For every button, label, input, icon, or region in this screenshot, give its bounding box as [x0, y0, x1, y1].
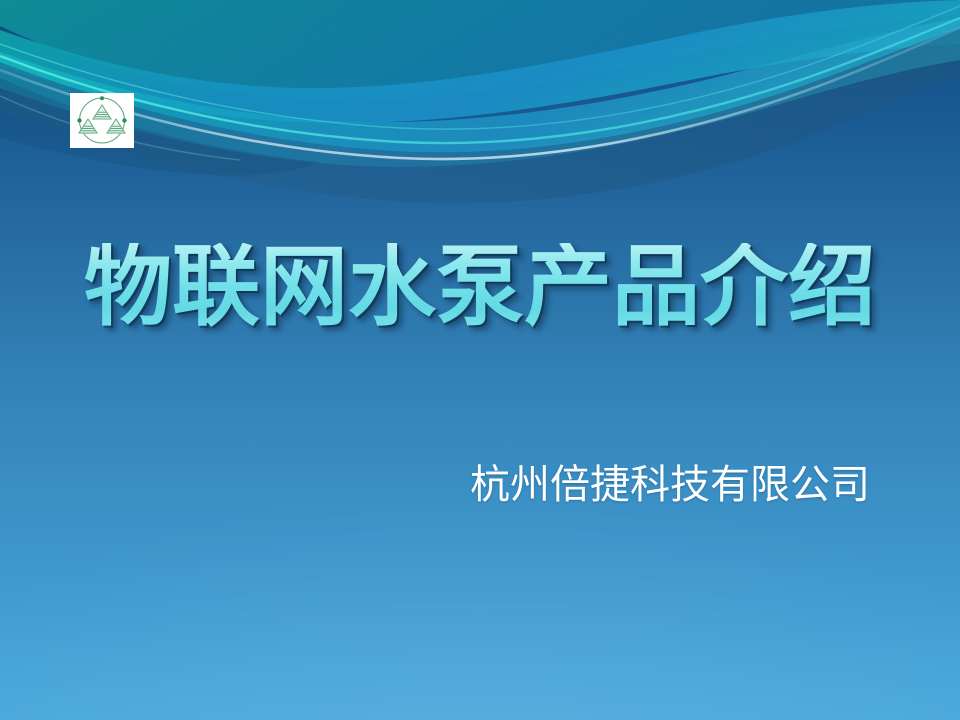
swoosh-line-cyan-secondary [0, 6, 960, 129]
swoosh-band-teal-secondary [0, 18, 960, 167]
logo-dot-top [100, 96, 104, 100]
swoosh-band-teal-upper [0, 0, 960, 100]
swoosh-band-teal-main [0, 0, 960, 123]
swoosh-band-dark [0, 28, 960, 203]
presentation-slide: 物联网水泵产品介绍 杭州倍捷科技有限公司 [0, 0, 960, 720]
flow-swoosh-ribbon [0, 0, 960, 720]
slide-sheen-overlay [0, 0, 960, 720]
swoosh-line-highlight [0, 28, 960, 159]
swoosh-shadow-left [0, 78, 320, 175]
company-logo [70, 93, 134, 148]
logo-dot-right [122, 118, 126, 122]
swoosh-line-cyan [0, 18, 960, 143]
slide-subtitle: 杭州倍捷科技有限公司 [440, 462, 900, 508]
three-pyramids-in-circle-icon [70, 93, 134, 148]
slide-subtitle-text: 杭州倍捷科技有限公司 [470, 462, 870, 508]
slide-title: 物联网水泵产品介绍 [96, 228, 864, 346]
slide-title-text: 物联网水泵产品介绍 [84, 243, 876, 331]
logo-dot-left [77, 118, 81, 122]
